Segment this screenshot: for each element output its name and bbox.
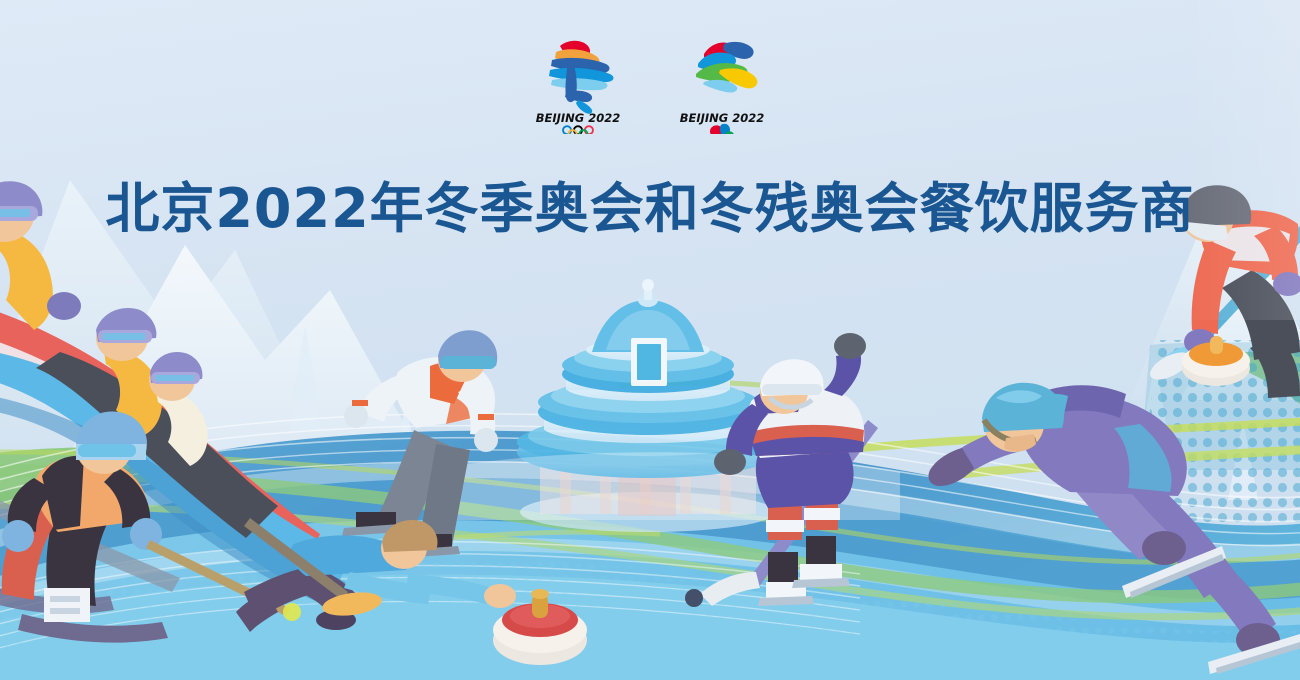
page-title: 北京2022年冬季奥会和冬残奥会餐饮服务商 — [105, 179, 1194, 239]
agitos-icon — [710, 124, 734, 134]
beijing-2022-paralympic-emblem: BEIJING 2022 — [674, 30, 770, 134]
paralympic-wordmark: BEIJING 2022 — [680, 111, 765, 125]
beijing-2022-catering-banner: BEIJING 2022 — [0, 0, 1300, 680]
beijing-2022-olympic-emblem: BEIJING 2022 — [530, 30, 626, 134]
ice-hockey-player — [685, 333, 878, 607]
emblem-row: BEIJING 2022 — [0, 30, 1300, 134]
speed-skater — [928, 383, 1300, 674]
page-title-wrap: 北京2022年冬季奥会和冬残奥会餐饮服务商 — [0, 143, 1300, 276]
olympic-wordmark: BEIJING 2022 — [536, 111, 621, 125]
